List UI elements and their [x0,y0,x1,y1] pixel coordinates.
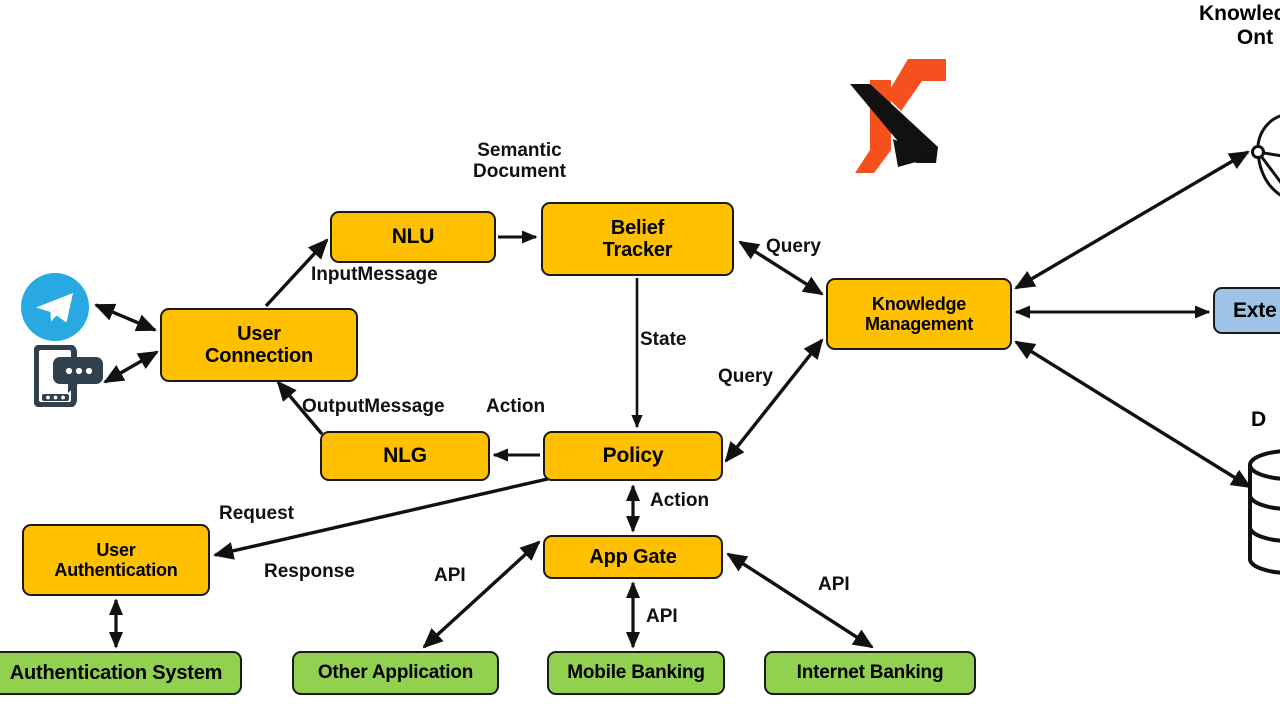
edge-sms-userconnection [105,352,157,382]
edge-appgate-otherapplication [424,542,539,647]
edge-label-output-message: OutputMessage [302,396,445,417]
edge-telegram-userconnection [96,305,155,330]
node-knowledge-management[interactable]: Knowledge Management [826,278,1012,350]
telegram-icon [20,272,90,342]
database-title: D [1251,408,1280,432]
edge-label-request: Request [219,503,294,524]
edge-knowledgemanagement-database [1016,342,1250,487]
node-user-authentication[interactable]: User Authentication [22,524,210,596]
node-policy[interactable]: Policy [543,431,723,481]
sms-chat-icon [34,345,104,407]
edge-label-response: Response [264,561,355,582]
database-cylinder-icon [1245,447,1280,577]
node-user-connection[interactable]: User Connection [160,308,358,382]
edge-label-api-other-application: API [434,565,466,586]
brand-logo [846,55,950,175]
edge-label-state: State [640,329,686,350]
edge-policy-knowledgemanagement [726,340,822,461]
edge-label-action-appgate: Action [650,490,709,511]
edge-label-query-top: Query [766,236,821,257]
node-external-source[interactable]: Exte [1213,287,1280,334]
knowledge-ontology-title: Knowledge Ont [1170,2,1280,50]
architecture-diagram-canvas: User Connection NLU Belief Tracker NLG P… [0,0,1280,720]
edge-knowledgemanagement-knowledgegraph [1016,152,1248,288]
edge-label-query-bottom: Query [718,366,773,387]
edge-label-semantic-document: Semantic Document [473,140,566,183]
edge-label-api-mobile-banking: API [646,606,678,627]
node-mobile-banking[interactable]: Mobile Banking [547,651,725,695]
node-nlu[interactable]: NLU [330,211,496,263]
knowledge-graph-icon [1240,100,1280,212]
node-app-gate[interactable]: App Gate [543,535,723,579]
edge-appgate-internetbanking [728,554,872,647]
node-internet-banking[interactable]: Internet Banking [764,651,976,695]
node-nlg[interactable]: NLG [320,431,490,481]
node-belief-tracker[interactable]: Belief Tracker [541,202,734,276]
edge-label-api-internet-banking: API [818,574,850,595]
edge-label-action-nlg: Action [486,396,545,417]
node-authentication-system[interactable]: Authentication System [0,651,242,695]
edge-label-input-message: InputMessage [311,264,438,285]
node-other-application[interactable]: Other Application [292,651,499,695]
